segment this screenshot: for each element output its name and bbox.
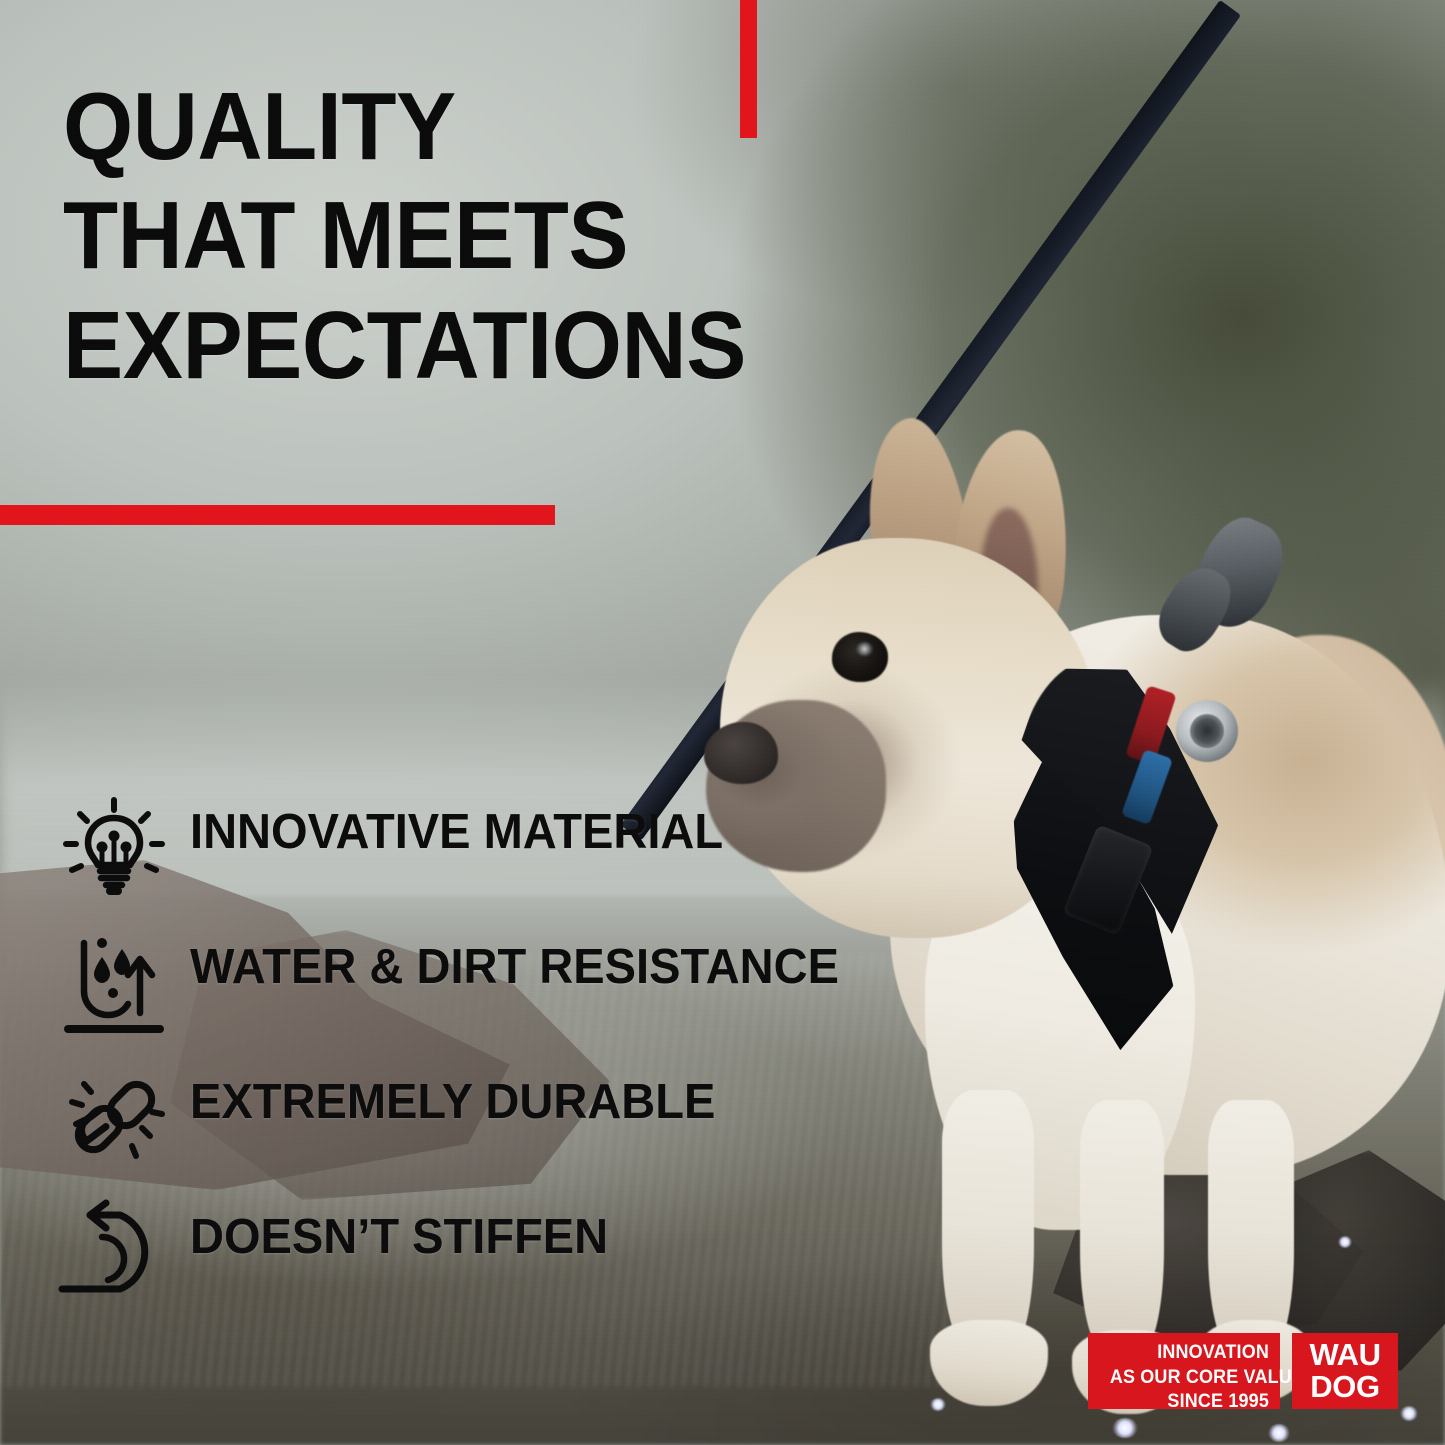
headline-line-3: EXPECTATIONS <box>63 291 909 400</box>
feature-item-extremely-durable: EXTREMELY DURABLE <box>58 1062 958 1197</box>
headline-line-1: QUALITY <box>63 72 909 181</box>
feature-list: INNOVATIVE MATERIAL WATER & DIRT RESISTA… <box>58 792 958 1332</box>
innovation-claim-badge: INNOVATION AS OUR CORE VALUE SINCE 1995 <box>1088 1333 1280 1409</box>
water-repellent-icon <box>58 927 170 1039</box>
flexible-bend-icon <box>58 1197 170 1309</box>
logo-line-1: WAU <box>1309 1339 1380 1371</box>
feature-item-innovative-material: INNOVATIVE MATERIAL <box>58 792 958 927</box>
claim-line-3: SINCE 1995 <box>1110 1389 1269 1414</box>
dog-eye <box>832 632 888 682</box>
id-tag-round <box>1176 700 1238 762</box>
dog-front-leg-right <box>1080 1100 1164 1350</box>
feature-item-water-dirt-resistance: WATER & DIRT RESISTANCE <box>58 927 958 1062</box>
feature-item-doesnt-stiffen: DOESN’T STIFFEN <box>58 1197 958 1332</box>
claim-line-1: INNOVATION <box>1110 1340 1269 1365</box>
dog-eye-highlight <box>856 642 873 656</box>
waudog-logo: WAU DOG <box>1292 1333 1398 1409</box>
marketing-banner: QUALITY THAT MEETS EXPECTATIONS INNOVATI… <box>0 0 1445 1445</box>
feature-label: INNOVATIVE MATERIAL <box>190 808 723 857</box>
claim-line-2: AS OUR CORE VALUE <box>1110 1365 1269 1390</box>
feature-label: WATER & DIRT RESISTANCE <box>190 943 839 992</box>
dog-nose <box>704 722 778 784</box>
dog-hind-leg <box>1208 1100 1294 1350</box>
feature-label: EXTREMELY DURABLE <box>190 1078 715 1127</box>
red-horizontal-rule <box>0 505 555 525</box>
logo-line-2: DOG <box>1310 1371 1379 1403</box>
page-title: QUALITY THAT MEETS EXPECTATIONS <box>63 72 909 400</box>
broken-chain-icon <box>58 1062 170 1174</box>
lightbulb-icon <box>58 792 170 904</box>
headline-line-2: THAT MEETS <box>63 181 909 290</box>
dog-paw-front-left <box>930 1320 1048 1406</box>
feature-label: DOESN’T STIFFEN <box>190 1213 608 1262</box>
